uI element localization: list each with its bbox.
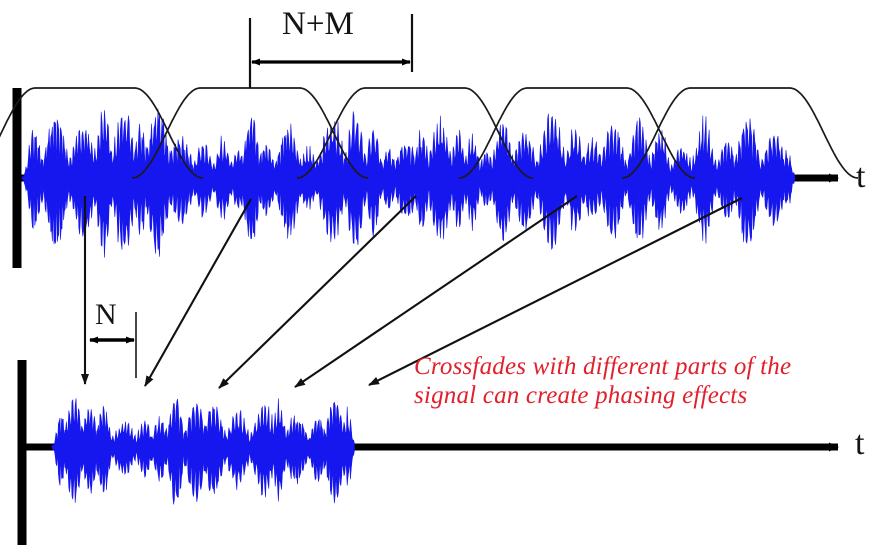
top-waveform	[22, 109, 795, 258]
label-n: N	[95, 298, 117, 332]
label-time-axis-top: t	[856, 158, 865, 196]
annotation-line-2: signal can create phasing effects	[414, 381, 864, 410]
annotation-crossfade-phasing: Crossfades with different parts of the s…	[414, 352, 864, 410]
mapping-arrow-2	[145, 199, 251, 386]
waveform-path	[52, 398, 354, 504]
waveform-path	[22, 109, 795, 258]
signal-diagram-svg	[0, 0, 886, 560]
label-time-axis-bottom: t	[855, 425, 864, 463]
top-panel	[0, 88, 858, 268]
label-n-plus-m: N+M	[282, 6, 354, 43]
bottom-waveform	[52, 398, 354, 504]
annotation-line-1: Crossfades with different parts of the	[414, 352, 864, 381]
figure-canvas: N+M N t t Crossfades with different part…	[0, 0, 886, 560]
